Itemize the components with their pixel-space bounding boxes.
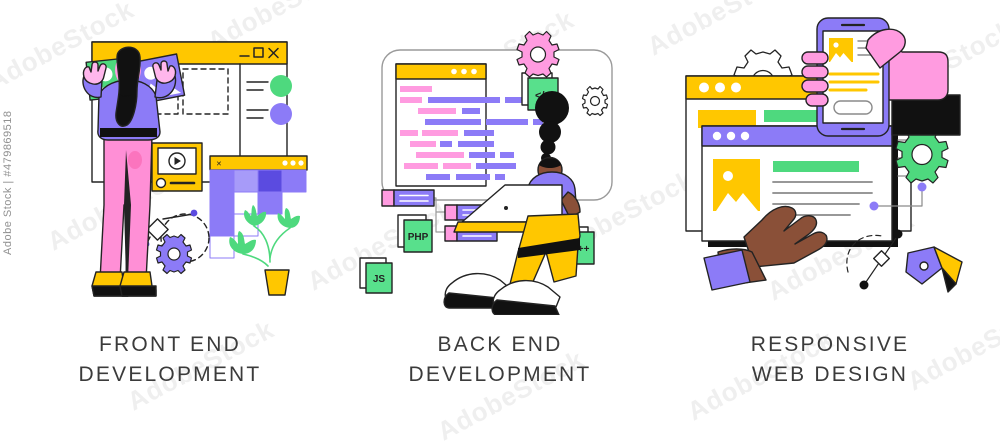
hair-bubble xyxy=(541,140,556,155)
panel-front-end-development: ✕ xyxy=(0,0,340,429)
back-end-illustration: </> PHP JS C++ xyxy=(340,0,660,315)
caption-line-2: DEVELOPMENT xyxy=(0,360,340,390)
anchor-point xyxy=(860,281,869,290)
status-dot-purple xyxy=(270,103,292,125)
connector-dot xyxy=(918,183,927,192)
pocket xyxy=(128,151,142,169)
caption-line-1: FRONT END xyxy=(99,333,241,356)
status-dot-green xyxy=(270,75,292,97)
image-placeholder xyxy=(713,159,760,211)
panel-caption: FRONT END DEVELOPMENT xyxy=(0,330,340,390)
anchor-point xyxy=(894,230,903,239)
panel-caption: RESPONSIVE WEB DESIGN xyxy=(660,330,1000,390)
caption-line-2: WEB DESIGN xyxy=(660,360,1000,390)
phone-button xyxy=(834,101,872,114)
gear-orbit xyxy=(143,210,209,274)
connector-dot xyxy=(870,202,879,211)
anchor-dot xyxy=(191,210,198,217)
hair-bubble xyxy=(539,121,561,143)
caption-line-1: RESPONSIVE xyxy=(751,333,910,356)
sleeve-cuff xyxy=(704,250,750,290)
panel-caption: BACK END DEVELOPMENT xyxy=(340,330,660,390)
caption-line-2: DEVELOPMENT xyxy=(340,360,660,390)
close-icon: ✕ xyxy=(216,161,222,168)
badge-label: PHP xyxy=(408,232,429,243)
responsive-web-illustration xyxy=(660,0,1000,315)
badge-php: PHP xyxy=(398,215,432,252)
hair-bubble xyxy=(535,91,569,125)
phone-in-hand xyxy=(802,18,960,136)
heading-bar xyxy=(773,161,859,172)
video-card xyxy=(152,143,202,191)
badge-label: JS xyxy=(373,274,386,285)
illustration-canvas: AdobeStock AdobeStock AdobeStock AdobeSt… xyxy=(0,0,1000,429)
belt xyxy=(100,128,157,137)
badge-js: JS xyxy=(360,258,392,293)
front-end-illustration: ✕ xyxy=(0,0,340,315)
panel-back-end-development: </> PHP JS C++ xyxy=(340,0,660,429)
panel-responsive-web-design: RESPONSIVE WEB DESIGN xyxy=(660,0,1000,429)
sleeve xyxy=(892,95,960,135)
grid-window: ✕ xyxy=(210,156,307,258)
caption-line-1: BACK END xyxy=(438,333,563,356)
db-node xyxy=(382,190,434,206)
